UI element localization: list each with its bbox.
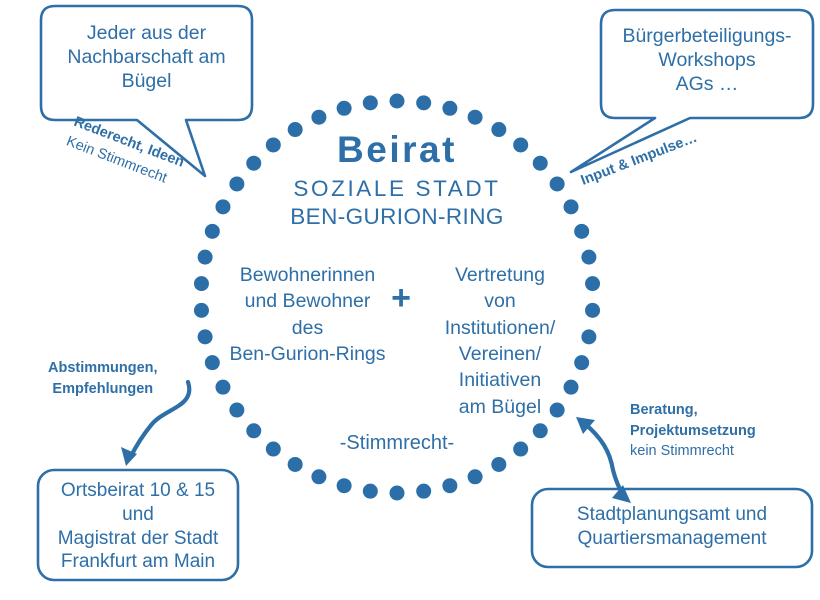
ring-dot (229, 176, 244, 191)
annotation-beratung: Beratung, (630, 400, 756, 421)
ring-dot (468, 469, 483, 484)
plus-icon: + (388, 281, 414, 315)
page-title: Beirat (247, 128, 547, 172)
ring-dot (194, 303, 209, 318)
annotation-projektumsetzung: Projektumsetzung (630, 421, 756, 442)
annotation-kein-stimmrecht-right: kein Stimmrecht (630, 441, 756, 462)
ring-dot (311, 469, 326, 484)
ring-dot (194, 276, 209, 291)
box-stadtplanungsamt-label: Stadtplanungsamt und Quartiersmanagement (540, 503, 804, 551)
ring-dot (205, 224, 220, 239)
ring-dot (311, 110, 326, 125)
ring-dot (215, 380, 230, 395)
ring-dot (513, 442, 528, 457)
ring-dot (468, 110, 483, 125)
annotation-empfehlungen: Empfehlungen (48, 379, 158, 400)
ring-dot (564, 199, 579, 214)
box-ortsbeirat-label: Ortsbeirat 10 & 15 und Magistrat der Sta… (42, 479, 234, 574)
ring-dot (442, 101, 457, 116)
bubble-workshops-label: Bürgerbeteiligungs- Workshops AGs … (606, 25, 808, 96)
ring-dot (574, 224, 589, 239)
members-residents: Bewohnerinnen und Bewohner des Ben-Gurio… (219, 262, 396, 367)
ring-dot (390, 486, 405, 501)
ring-dot (491, 457, 506, 472)
bubble-neighbourhood-label: Jeder aus der Nachbarschaft am Bügel (47, 22, 246, 93)
ring-dot (215, 199, 230, 214)
ring-dot (363, 484, 378, 499)
members-institutions: Vertretung von Institutionen/ Vereinen/ … (419, 262, 581, 420)
diagram-canvas: Jeder aus der Nachbarschaft am Bügel Bür… (0, 0, 820, 600)
annotation-beratung-group: Beratung, Projektumsetzung kein Stimmrec… (630, 400, 756, 462)
subtitle-soziale-stadt: SOZIALE STADT (247, 176, 547, 203)
ring-dot (198, 329, 213, 344)
ring-dot (442, 478, 457, 493)
ring-dot (533, 423, 548, 438)
ring-dot (416, 95, 431, 110)
voting-rights-note: -Stimmrecht- (297, 432, 497, 456)
ring-dot (246, 423, 261, 438)
ring-dot (363, 95, 378, 110)
ring-dot (550, 176, 565, 191)
ring-dot (229, 403, 244, 418)
ring-dot (205, 355, 220, 370)
ring-dot (390, 94, 405, 109)
ring-dot (585, 303, 600, 318)
ring-dot (416, 484, 431, 499)
ring-dot (288, 457, 303, 472)
annotation-abstimmungen-group: Abstimmungen, Empfehlungen (48, 358, 158, 399)
ring-dot (337, 478, 352, 493)
ring-dot (266, 442, 281, 457)
ring-dot (337, 101, 352, 116)
ring-dot (585, 276, 600, 291)
ring-dot (198, 250, 213, 265)
subtitle-ben-gurion-ring: BEN-GURION-RING (247, 204, 547, 231)
ring-dot (581, 329, 596, 344)
ring-dot (581, 250, 596, 265)
annotation-abstimmungen: Abstimmungen, (48, 358, 158, 379)
